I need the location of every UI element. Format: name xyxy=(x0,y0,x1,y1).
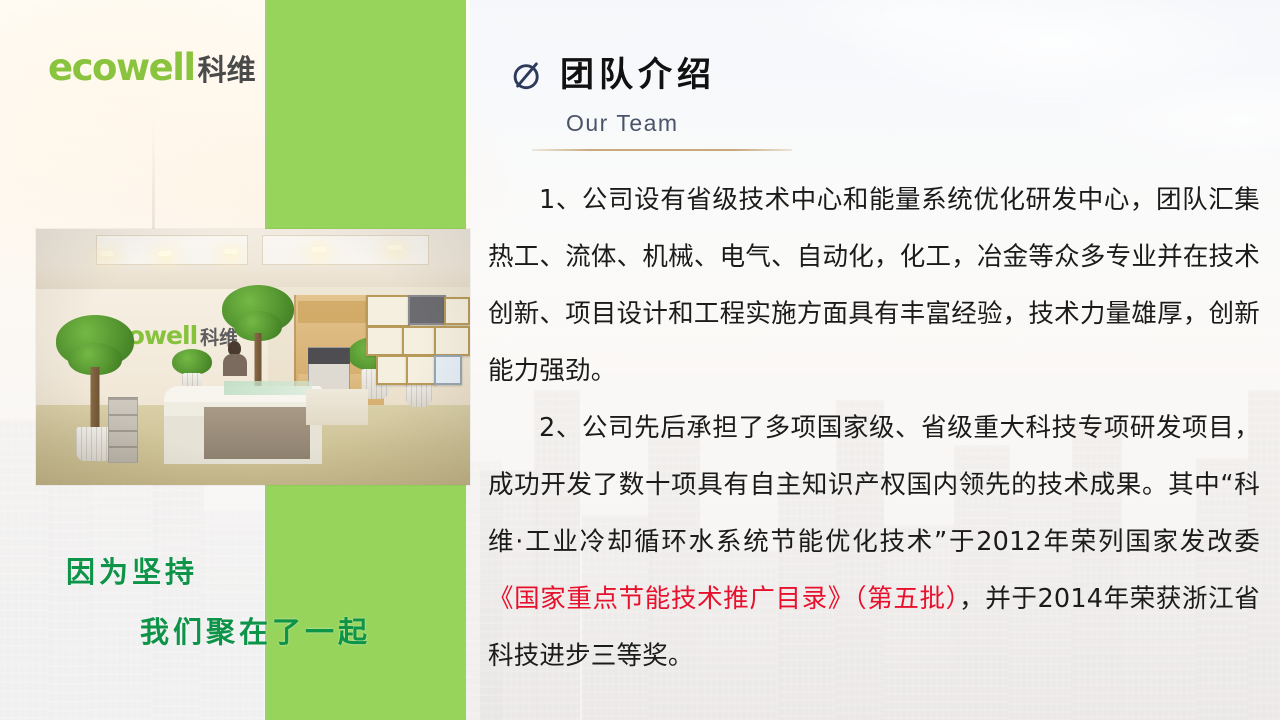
page-title: 团队介绍 xyxy=(560,58,716,92)
paragraph-1: 1、公司设有省级技术中心和能量系统优化研发中心，团队汇集热工、流体、机械、电气、… xyxy=(488,172,1260,400)
logo-wordmark-cn: 科维 xyxy=(198,47,256,89)
paragraph-2-text-a: 2、公司先后承担了多项国家级、省级重大科技专项研发项目，成功开发了数十项具有自主… xyxy=(488,413,1260,557)
content-panel: 团队介绍 Our Team 1、公司设有省级技术中心和能量系统优化研发中心，团队… xyxy=(470,0,1280,720)
logo-wordmark-en: ecowell xyxy=(48,46,195,89)
heading-divider xyxy=(532,149,792,151)
company-logo: ecowell 科维 xyxy=(48,46,256,89)
paragraph-2: 2、公司先后承担了多项国家级、省级重大科技专项研发项目，成功开发了数十项具有自主… xyxy=(488,400,1260,685)
page-subtitle: Our Team xyxy=(566,110,679,137)
photo-vignette xyxy=(36,229,470,485)
section-heading: 团队介绍 xyxy=(510,58,716,92)
office-reception-photo: ecowell 科维 xyxy=(36,229,470,485)
body-content: 1、公司设有省级技术中心和能量系统优化研发中心，团队汇集热工、流体、机械、电气、… xyxy=(488,172,1260,685)
slide-root: ecowell 科维 ecowell 科维 xyxy=(0,0,1280,720)
circle-slash-icon xyxy=(510,58,544,92)
slogan-line-1: 因为坚持 xyxy=(66,549,198,591)
paragraph-2-highlight: 《国家重点节能技术推广目录》（第五批） xyxy=(488,584,959,614)
slogan-line-2: 我们聚在了一起 xyxy=(140,609,371,651)
